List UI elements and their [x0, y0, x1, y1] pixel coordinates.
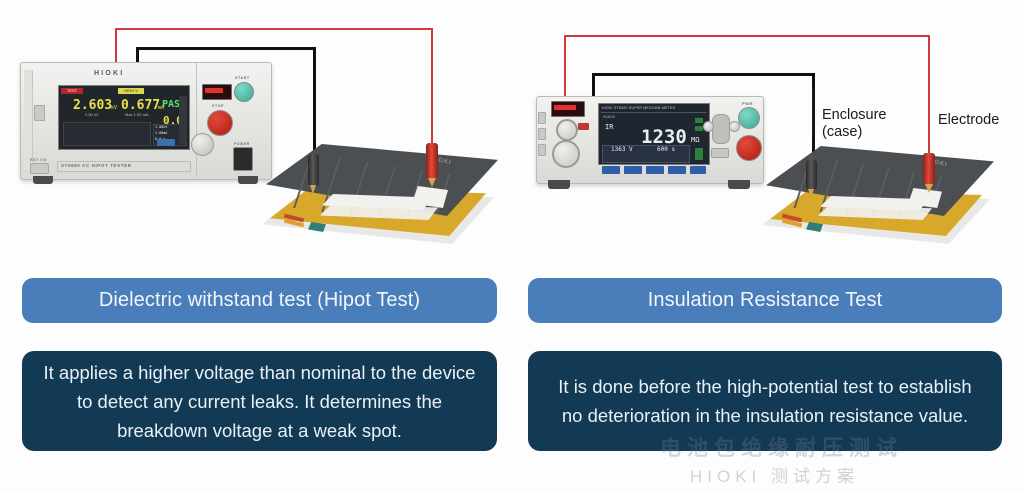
- ir-display-indicator: [695, 118, 703, 123]
- hipot-ext-io-label: EXT I/O: [30, 158, 47, 162]
- ir-display-resistance-unit: MΩ: [691, 136, 699, 144]
- hipot-panel-divider: [196, 63, 197, 177]
- ir-softkey[interactable]: [602, 166, 620, 174]
- hipot-start-label: START: [235, 76, 250, 80]
- ir-black-cable-top: [592, 73, 815, 76]
- ir-function-key[interactable]: [711, 148, 729, 158]
- ir-red-cable-top: [564, 35, 930, 37]
- ir-dut-module: HIOKI: [762, 142, 1002, 254]
- hipot-black-probe: [308, 154, 319, 186]
- hipot-usb-port: [34, 105, 45, 121]
- banner-hipot[interactable]: Dielectric withstand test (Hipot Test): [22, 278, 497, 323]
- hipot-black-cable-top: [136, 47, 316, 50]
- hipot-display-sub-right: Max 1.00 mA: [125, 112, 149, 117]
- ir-black-probe: [806, 160, 817, 190]
- enclosure-callout-label-line2: (case): [822, 124, 862, 141]
- hipot-display-side-readout-2: 1.00mA: [155, 131, 167, 135]
- hipot-display: TEST HIGH V 2.603 kV 0.677 mA PASS 0.0 s…: [58, 85, 190, 150]
- ir-softkey[interactable]: [668, 166, 686, 174]
- hipot-start-button[interactable]: [234, 82, 254, 102]
- hipot-instrument-foot-right: [238, 176, 258, 184]
- ir-terminal-high[interactable]: [556, 119, 578, 141]
- hipot-display-tab-column: [179, 96, 187, 144]
- electrode-callout-label: Electrode: [938, 112, 999, 129]
- diagram-canvas: HIOKI EXT I/O TEST HIGH V 2.603 kV 0.677…: [0, 0, 1024, 491]
- ir-display-secondary-time: 600 s: [657, 146, 675, 153]
- ir-display-indicator: [695, 126, 703, 131]
- hipot-model-text: ST5680 AC HIPOT TESTER: [61, 163, 132, 168]
- ir-terminal-low[interactable]: [552, 140, 580, 168]
- ir-red-probe-tip: [925, 184, 933, 193]
- hipot-brand: HIOKI: [94, 70, 124, 77]
- watermark-line-1: 电池包绝缘耐压测试: [660, 432, 903, 462]
- ir-display: HIOKI ST5520 SUPER MEGOHM METER RANGE IR…: [598, 103, 710, 165]
- ir-softkey[interactable]: [690, 166, 706, 174]
- hipot-led-bar: [205, 88, 223, 93]
- ir-display-top-rule: [601, 112, 707, 113]
- ir-keypad-block[interactable]: [712, 114, 730, 144]
- ir-terminal-badge: [578, 123, 589, 130]
- hipot-stop-button[interactable]: [207, 110, 233, 136]
- ir-softkey[interactable]: [646, 166, 664, 174]
- hipot-display-sub-left: 2.50 kV: [85, 112, 99, 117]
- hipot-black-cable-drop: [313, 47, 316, 155]
- hipot-display-voltage: 2.603: [73, 98, 112, 113]
- enclosure-callout-label-line1: Enclosure: [822, 107, 886, 124]
- ir-display-range-label: RANGE: [603, 115, 615, 119]
- hipot-display-status-tag: TEST: [61, 88, 83, 94]
- ir-side-port: [538, 128, 546, 140]
- ir-instrument-foot-right: [728, 180, 750, 189]
- ir-display-top-strip: HIOKI ST5520 SUPER MEGOHM METER: [602, 106, 675, 110]
- hipot-red-cable-drop: [431, 28, 433, 144]
- ir-side-port: [538, 112, 546, 124]
- hipot-red-probe-tip: [428, 178, 436, 187]
- hipot-rotary-knob[interactable]: [191, 133, 214, 156]
- hipot-left-grip: [24, 70, 33, 170]
- watermark-line-2: HIOKI 测试方案: [690, 462, 859, 487]
- ir-power-label: PWR: [742, 101, 753, 106]
- hipot-ext-io-port: [30, 163, 49, 174]
- ir-black-probe-tip: [808, 189, 814, 198]
- ir-display-mode-label: IR: [605, 123, 613, 131]
- ir-display-indicator: [695, 148, 703, 160]
- hipot-dut-module: HIOKI: [262, 140, 506, 255]
- hipot-display-softkey: [157, 139, 175, 146]
- ir-red-probe: [923, 153, 935, 185]
- ir-stop-button[interactable]: [736, 135, 762, 161]
- hipot-display-voltage-unit: kV: [111, 105, 117, 111]
- banner-insulation[interactable]: Insulation Resistance Test: [528, 278, 1002, 323]
- hipot-instrument-foot-left: [33, 176, 53, 184]
- hipot-red-cable-top: [115, 28, 433, 30]
- ir-left-knob[interactable]: [703, 121, 714, 132]
- hipot-display-highv-tag: HIGH V: [118, 88, 144, 94]
- body-hipot: It applies a higher voltage than nominal…: [22, 351, 497, 451]
- enclosure-callout-line: [812, 88, 814, 138]
- hipot-display-side-readout-1: 1.00kV: [155, 125, 167, 129]
- ir-display-secondary-voltage: 1363 V: [611, 146, 633, 153]
- electrode-callout-line: [928, 88, 930, 146]
- hipot-red-probe: [426, 143, 438, 179]
- hipot-stop-label: STOP: [212, 104, 224, 108]
- ir-start-button[interactable]: [738, 107, 760, 129]
- hipot-display-current: 0.677: [121, 98, 160, 113]
- ir-instrument-foot-left: [548, 180, 570, 189]
- ir-led-bar: [554, 105, 576, 110]
- hipot-black-probe-tip: [310, 185, 316, 194]
- ir-side-port: [538, 144, 546, 156]
- hipot-display-graph: [63, 122, 151, 146]
- ir-softkey[interactable]: [624, 166, 642, 174]
- hipot-power-switch[interactable]: [233, 147, 253, 171]
- hipot-power-label: POWER: [234, 142, 250, 146]
